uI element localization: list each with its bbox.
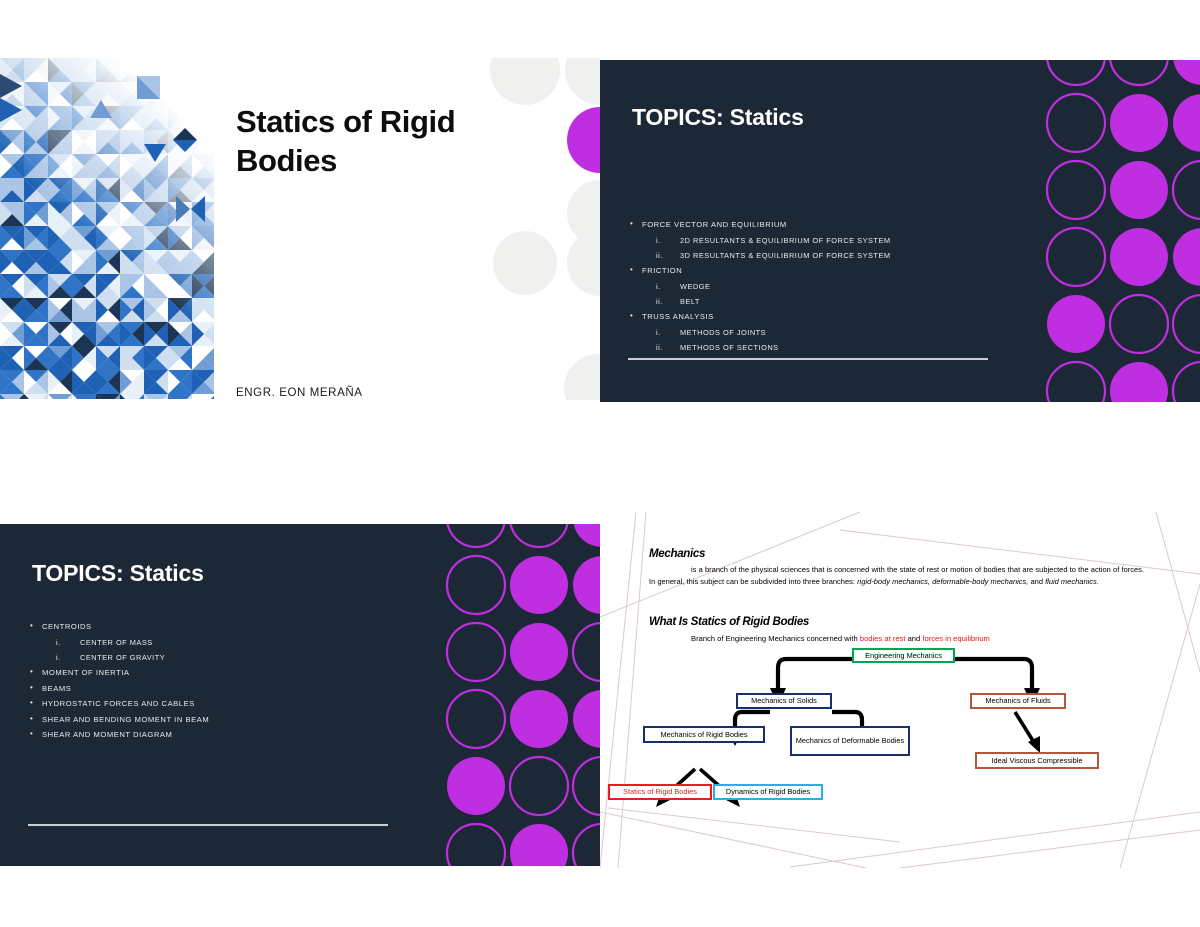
list-item: SHEAR AND BENDING MOMENT IN BEAM xyxy=(28,715,209,724)
node-mechanics-of-rigid-bodies[interactable]: Mechanics of Rigid Bodies xyxy=(643,726,765,743)
list-item: TRUSS ANALYSIS xyxy=(628,312,891,321)
node-engineering-mechanics[interactable]: Engineering Mechanics xyxy=(852,648,955,663)
list-item-label: BELT xyxy=(680,297,700,306)
list-item: i.CENTER OF MASS xyxy=(28,638,209,647)
author-name: ENGR. EON MERAÑA xyxy=(236,387,363,399)
slide-topics-statics-part-1[interactable]: TOPICS: Statics FORCE VECTOR AND EQUILIB… xyxy=(600,60,1200,402)
node-label: Statics of Rigid Bodies xyxy=(623,787,697,797)
slide3-footer-divider xyxy=(28,824,388,826)
slide-mechanics-definition-diagram[interactable]: Mechanics is a branch of the physical sc… xyxy=(600,512,1200,868)
list-item: FORCE VECTOR AND EQUILIBRIUM xyxy=(628,220,891,229)
slide3-heading: TOPICS: Statics xyxy=(32,560,204,587)
list-item: ii.METHODS OF SECTIONS xyxy=(628,343,891,352)
list-item-marker: i. xyxy=(56,653,61,662)
slide-topics-statics-part-2[interactable]: TOPICS: Statics CENTROIDSi.CENTER OF MAS… xyxy=(0,524,600,866)
list-item-marker: i. xyxy=(656,282,661,291)
node-label: Ideal Viscous Compressible xyxy=(991,756,1082,766)
list-item: i.2D RESULTANTS & EQUILIBRIUM OF FORCE S… xyxy=(628,236,891,245)
slide2-heading: TOPICS: Statics xyxy=(632,104,804,131)
list-item: HYDROSTATIC FORCES AND CABLES xyxy=(28,699,209,708)
slide3-topic-list: CENTROIDSi.CENTER OF MASSi.CENTER OF GRA… xyxy=(28,622,209,746)
list-item: BEAMS xyxy=(28,684,209,693)
list-item-label: CENTER OF MASS xyxy=(80,638,153,647)
list-item: i.CENTER OF GRAVITY xyxy=(28,653,209,662)
node-label: Mechanics of Solids xyxy=(751,696,817,706)
node-ideal-viscous-compressible[interactable]: Ideal Viscous Compressible xyxy=(975,752,1099,769)
list-item-marker: ii. xyxy=(656,343,663,352)
node-mechanics-of-deformable-bodies[interactable]: Mechanics of Deformable Bodies xyxy=(790,726,910,756)
list-item-marker: ii. xyxy=(656,297,663,306)
triangle-mosaic-decoration xyxy=(0,58,214,399)
list-item-label: CENTER OF GRAVITY xyxy=(80,653,165,662)
flowchart-arrows xyxy=(600,512,1200,868)
node-label: Mechanics of Fluids xyxy=(985,696,1050,706)
page-title: Statics of Rigid Bodies xyxy=(236,102,536,180)
node-mechanics-of-fluids[interactable]: Mechanics of Fluids xyxy=(970,693,1066,709)
list-item: FRICTION xyxy=(628,266,891,275)
list-item-label: METHODS OF SECTIONS xyxy=(680,343,779,352)
list-item-label: METHODS OF JOINTS xyxy=(680,328,766,337)
node-dynamics-of-rigid-bodies[interactable]: Dynamics of Rigid Bodies xyxy=(713,784,823,800)
list-item-label: WEDGE xyxy=(680,282,710,291)
slide-title-statics-of-rigid-bodies[interactable]: Statics of Rigid Bodies ENGR. EON MERAÑA xyxy=(0,58,600,400)
node-label: Engineering Mechanics xyxy=(865,651,942,661)
node-label: Mechanics of Rigid Bodies xyxy=(660,730,747,740)
node-mechanics-of-solids[interactable]: Mechanics of Solids xyxy=(736,693,832,709)
node-label: Mechanics of Deformable Bodies xyxy=(796,736,904,746)
slide2-footer-divider xyxy=(628,358,988,360)
list-item: i.WEDGE xyxy=(628,282,891,291)
list-item: MOMENT OF INERTIA xyxy=(28,668,209,677)
list-item: ii.3D RESULTANTS & EQUILIBRIUM OF FORCE … xyxy=(628,251,891,260)
list-item-marker: i. xyxy=(56,638,61,647)
list-item: CENTROIDS xyxy=(28,622,209,631)
list-item-label: 2D RESULTANTS & EQUILIBRIUM OF FORCE SYS… xyxy=(680,236,891,245)
node-statics-of-rigid-bodies[interactable]: Statics of Rigid Bodies xyxy=(608,784,712,800)
slide2-topic-list: FORCE VECTOR AND EQUILIBRIUMi.2D RESULTA… xyxy=(628,220,891,358)
magenta-circles-decoration xyxy=(442,524,600,866)
list-item-marker: i. xyxy=(656,328,661,337)
node-label: Dynamics of Rigid Bodies xyxy=(726,787,810,797)
list-item: SHEAR AND MOMENT DIAGRAM xyxy=(28,730,209,739)
list-item-label: 3D RESULTANTS & EQUILIBRIUM OF FORCE SYS… xyxy=(680,251,891,260)
list-item-marker: i. xyxy=(656,236,661,245)
list-item-marker: ii. xyxy=(656,251,663,260)
magenta-circles-decoration xyxy=(1042,60,1200,402)
list-item: ii.BELT xyxy=(628,297,891,306)
list-item: i.METHODS OF JOINTS xyxy=(628,328,891,337)
